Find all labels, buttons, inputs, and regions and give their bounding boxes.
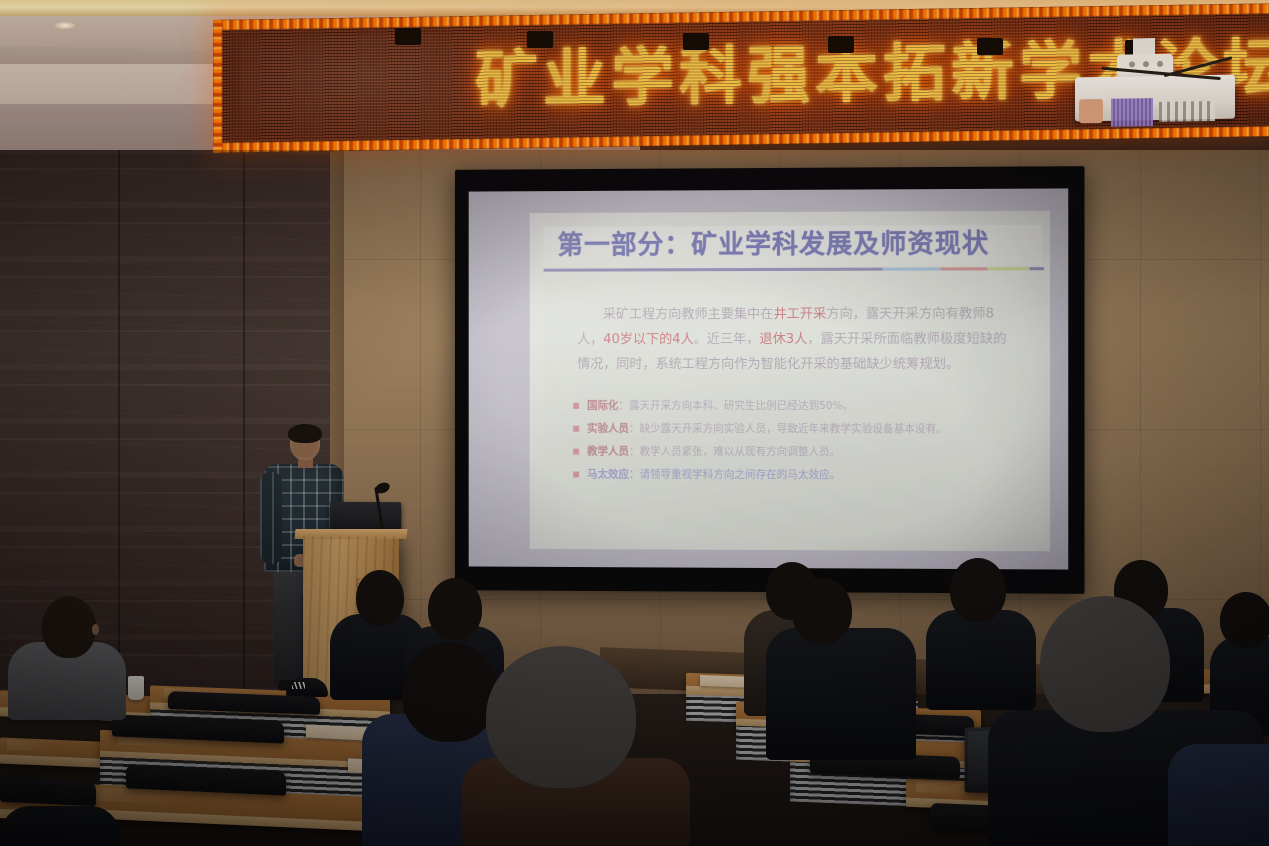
bullet-body: 教学人员紧张，难以从现有方向调整人员。 [640,446,841,458]
bullet-label: 国际化 [587,400,618,412]
projection-screen-frame: 第一部分：矿业学科发展及师资现状 采矿工程方向教师主要集中在井工开采方向，露天开… [455,166,1085,594]
ceiling-mount [527,31,553,48]
led-border-left [213,20,222,153]
ceiling-downlight-icon [55,22,75,29]
ceiling-projector [1075,59,1235,118]
bullet-text: 实验人员：缺少露天开采方向实验人员，导致近年来教学实验设备基本没有。 [587,420,1034,439]
attendee-head [1040,596,1170,732]
slide-title: 第一部分：矿业学科发展及师资现状 [557,223,989,262]
lecture-hall-photo: 矿业学科强本拓新学术论坛 第一部分：矿业学科发展及师资 [0,0,1269,846]
projector-lens-icon [1079,99,1103,123]
list-item: 马太效应：请领导重视学科方向之间存在的马太效应。 [573,466,1034,485]
attendee-torso [766,628,916,760]
attendee-ear [92,624,99,635]
ceiling-mount [977,38,1003,55]
para-highlight-2: 40岁以下的4人 [603,332,693,347]
bullet-text: 国际化：露天开采方向本科、研究生比例已经达到50%。 [587,397,1034,415]
bullet-label: 教学人员 [587,446,629,458]
bullet-square-icon [573,472,579,478]
para-highlight-1: 井工开采 [773,307,826,322]
chair [0,778,96,806]
bullet-text: 教学人员：教学人员紧张，难以从现有方向调整人员。 [587,443,1034,462]
list-item: 教学人员：教学人员紧张，难以从现有方向调整人员。 [573,443,1034,462]
para-highlight-3: 退休3人 [759,332,807,347]
slide-bullet-list: 国际化：露天开采方向本科、研究生比例已经达到50%。 实验人员：缺少露天开采方向… [573,397,1034,490]
attendee-torso [0,806,120,846]
projector-body [1075,75,1235,122]
attendee-head [356,570,404,626]
bullet-square-icon [573,426,579,432]
attendee-head [792,578,852,644]
bullet-body: 请领导重视学科方向之间存在的马太效应。 [640,469,841,482]
presentation-slide: 第一部分：矿业学科发展及师资现状 采矿工程方向教师主要集中在井工开采方向，露天开… [530,211,1050,552]
slide-title-rule [544,267,1044,272]
para-seg-3: 。近三年， [694,332,760,347]
presenter-arm [260,472,282,564]
attendee [0,806,120,846]
attendee [8,596,128,716]
projector-vent [1111,98,1153,127]
attendee-torso [1168,744,1269,846]
paper-cup [128,676,144,700]
list-item: 国际化：露天开采方向本科、研究生比例已经达到50%。 [573,397,1034,415]
slide-body-panel: 采矿工程方向教师主要集中在井工开采方向，露天开采方向有教师8人，40岁以下的4人… [544,274,1044,538]
attendee-head [42,596,96,658]
para-seg-1: 采矿工程方向教师主要集中在 [603,307,774,322]
attendee-head [486,646,636,788]
bullet-body: 露天开采方向本科、研究生比例已经达到50%。 [629,400,853,412]
attendee-head [428,578,482,640]
bullet-square-icon [573,403,579,409]
attendee [462,646,690,846]
ceiling-mount [683,33,709,50]
slide-paragraph: 采矿工程方向教师主要集中在井工开采方向，露天开采方向有教师8人，40岁以下的4人… [577,302,1017,378]
bullet-label: 马太效应 [587,469,629,481]
attendee [1168,744,1269,846]
list-item: 实验人员：缺少露天开采方向实验人员，导致近年来教学实验设备基本没有。 [573,420,1034,439]
ceiling-mount [395,28,421,45]
projector-ports [1159,101,1215,122]
bullet-body: 缺少露天开采方向实验人员，导致近年来教学实验设备基本没有。 [640,423,947,435]
attendee [766,578,916,758]
baseball-cap [286,678,328,697]
wall-seam [243,150,245,710]
projection-screen-surface: 第一部分：矿业学科发展及师资现状 采矿工程方向教师主要集中在井工开采方向，露天开… [469,188,1069,569]
bullet-label: 实验人员 [587,423,629,435]
presenter-hair [288,424,322,443]
bullet-text: 马太效应：请领导重视学科方向之间存在的马太效应。 [587,466,1034,485]
ceiling-mount [828,36,854,53]
bullet-square-icon [573,449,579,455]
